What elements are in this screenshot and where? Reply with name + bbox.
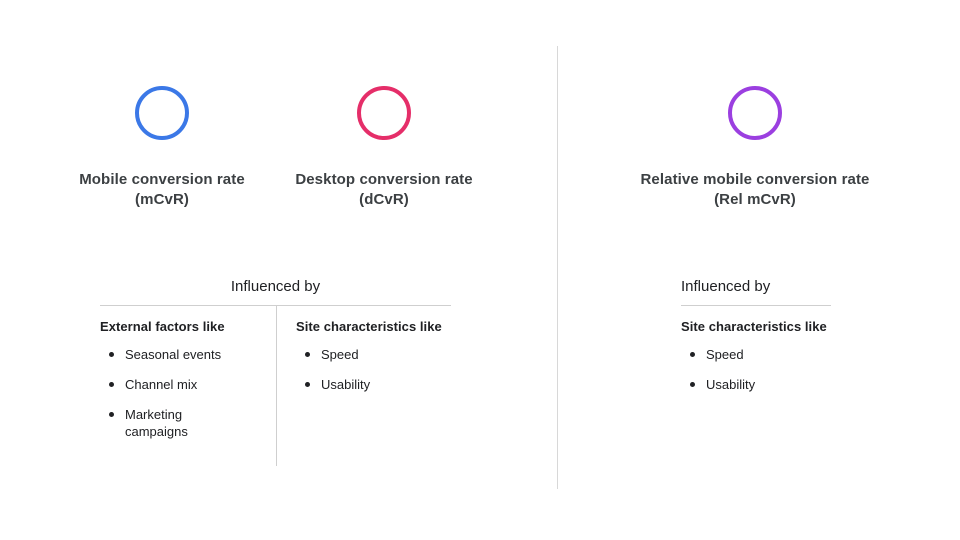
vertical-divider — [557, 46, 558, 489]
column-heading: External factors like — [100, 318, 276, 336]
column-site-characteristics: Site characteristics like Speed Usabilit… — [276, 306, 451, 453]
bullet-dot-icon — [690, 352, 695, 357]
column-divider — [276, 306, 277, 466]
list-item-label: Marketing campaigns — [125, 406, 203, 440]
bullet-dot-icon — [690, 382, 695, 387]
metric-card-mobile-conversion-rate: Mobile conversion rate (mCvR) — [62, 84, 262, 210]
metric-title-line1: Desktop conversion rate — [284, 170, 484, 190]
influenced-by-panel-right: Influenced by Site characteristics like … — [681, 277, 831, 406]
metric-caption: Mobile conversion rate (mCvR) — [62, 170, 262, 210]
list-item-label: Usability — [321, 376, 451, 393]
bullet-list: Seasonal events Channel mix Marketing ca… — [100, 346, 276, 440]
bullet-list: Speed Usability — [296, 346, 451, 393]
metric-card-relative-mobile-conversion-rate: Relative mobile conversion rate (Rel mCv… — [630, 84, 880, 210]
bullet-dot-icon — [109, 352, 114, 357]
list-item: Seasonal events — [125, 346, 276, 363]
circle-outline-icon — [728, 86, 782, 140]
ring-wrap — [630, 84, 880, 142]
metric-card-desktop-conversion-rate: Desktop conversion rate (dCvR) — [284, 84, 484, 210]
metric-title-line2: (dCvR) — [284, 190, 484, 210]
list-item-label: Speed — [321, 346, 451, 363]
influenced-by-panel-left: Influenced by External factors like Seas… — [100, 277, 451, 453]
list-item: Usability — [706, 376, 831, 393]
column-site-characteristics: Site characteristics like Speed Usabilit… — [681, 306, 831, 393]
list-item: Channel mix — [125, 376, 276, 393]
circle-outline-icon — [357, 86, 411, 140]
ring-wrap — [284, 84, 484, 142]
list-item-label: Channel mix — [125, 376, 276, 393]
list-item: Speed — [321, 346, 451, 363]
metric-title-line2: (Rel mCvR) — [630, 190, 880, 210]
bullet-dot-icon — [109, 382, 114, 387]
list-item: Usability — [321, 376, 451, 393]
circle-outline-icon — [135, 86, 189, 140]
panel-title: Influenced by — [100, 277, 451, 297]
column-heading: Site characteristics like — [296, 318, 451, 336]
panel-columns: External factors like Seasonal events Ch… — [100, 306, 451, 453]
list-item-label: Usability — [706, 376, 831, 393]
metric-caption: Desktop conversion rate (dCvR) — [284, 170, 484, 210]
list-item-label: Speed — [706, 346, 831, 363]
ring-wrap — [62, 84, 262, 142]
bullet-dot-icon — [109, 412, 114, 417]
column-external-factors: External factors like Seasonal events Ch… — [100, 306, 276, 453]
list-item: Marketing campaigns — [125, 406, 276, 440]
panel-title: Influenced by — [681, 277, 831, 297]
bullet-dot-icon — [305, 382, 310, 387]
list-item: Speed — [706, 346, 831, 363]
metric-title-line2: (mCvR) — [62, 190, 262, 210]
column-heading: Site characteristics like — [681, 318, 831, 336]
metric-title-line1: Mobile conversion rate — [62, 170, 262, 190]
bullet-list: Speed Usability — [681, 346, 831, 393]
slide-canvas: Mobile conversion rate (mCvR) Desktop co… — [0, 0, 960, 540]
metric-caption: Relative mobile conversion rate (Rel mCv… — [630, 170, 880, 210]
list-item-label: Seasonal events — [125, 346, 276, 363]
bullet-dot-icon — [305, 352, 310, 357]
metric-title-line1: Relative mobile conversion rate — [630, 170, 880, 190]
